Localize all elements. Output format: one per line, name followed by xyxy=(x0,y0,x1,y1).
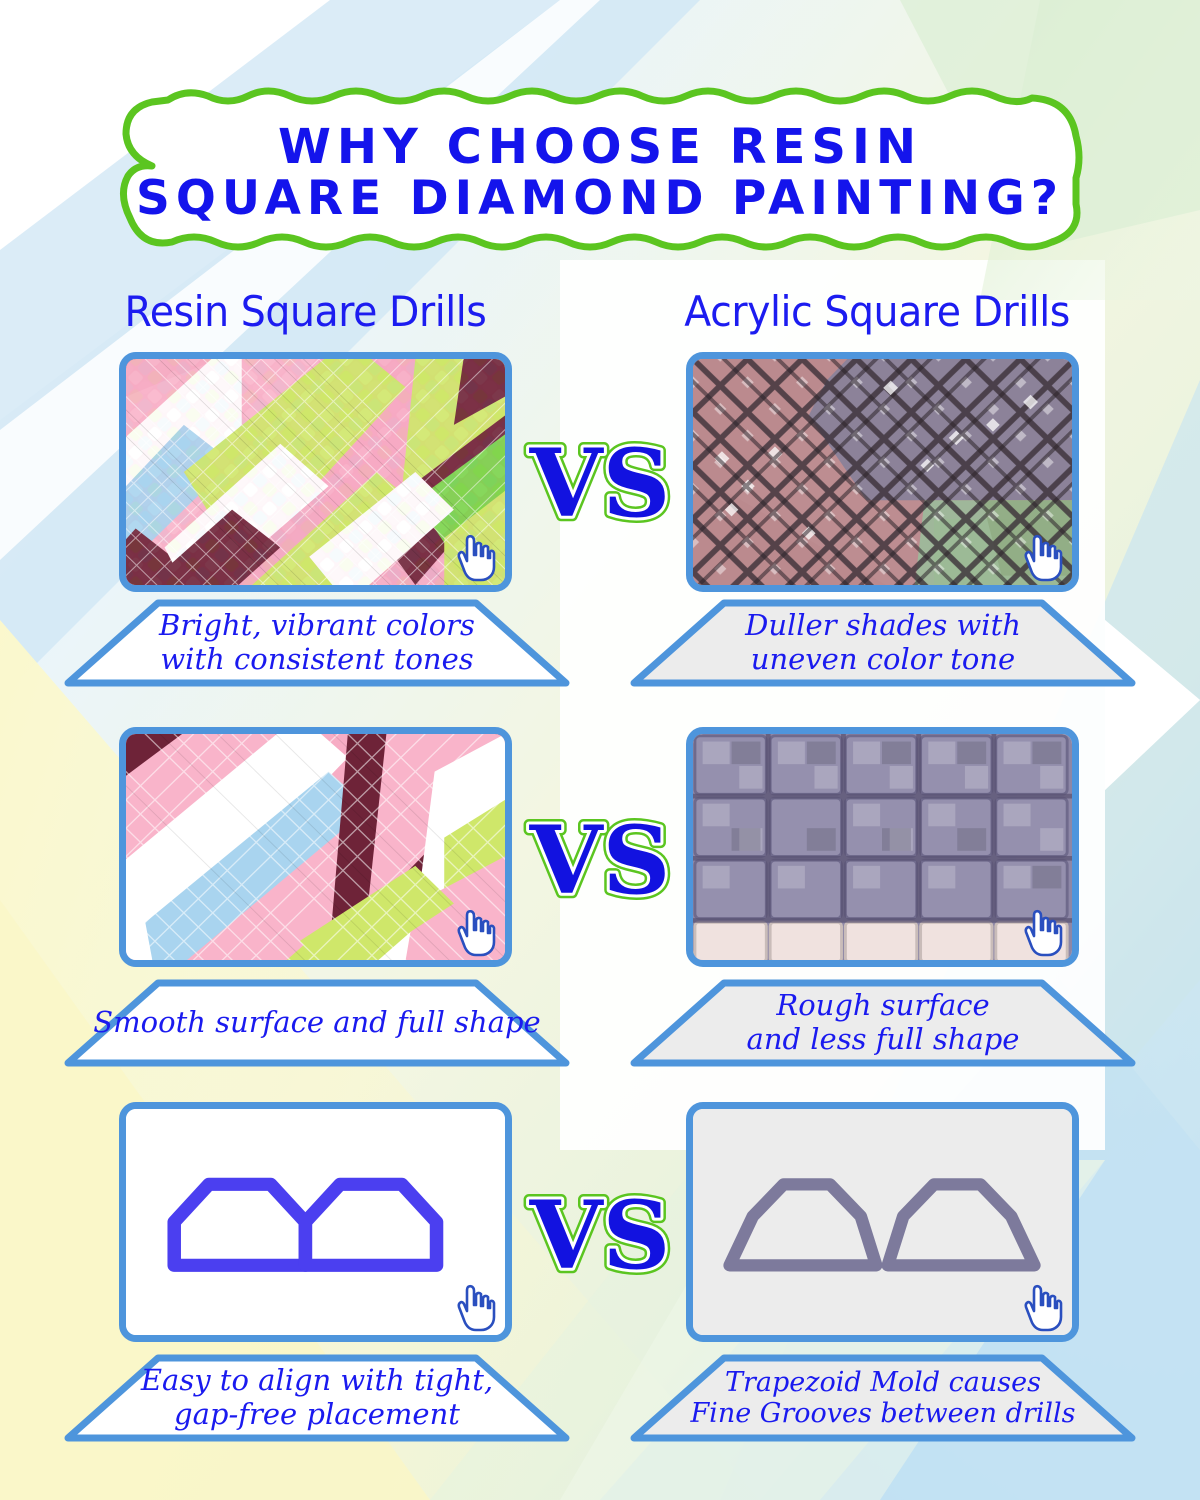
acrylic-drills-surface-photo xyxy=(693,734,1072,960)
card-resin-color-photo[interactable] xyxy=(119,352,512,592)
vs-badge-row-2: VS VS xyxy=(505,805,695,915)
vs-label: VS xyxy=(529,806,671,915)
card-acrylic-color-photo[interactable] xyxy=(686,352,1079,592)
caption-resin-shape: Easy to align with tight, gap-free place… xyxy=(62,1353,572,1443)
vs-label: VS xyxy=(529,1181,671,1290)
caption-line-2: Fine Grooves between drills xyxy=(690,1398,1075,1429)
title-line-1: WHY CHOOSE RESIN xyxy=(278,123,922,173)
resin-drills-surface-photo xyxy=(126,734,505,960)
vs-badge-row-1: VS VS xyxy=(505,428,695,538)
column-header-acrylic: Acrylic Square Drills xyxy=(684,287,1070,336)
caption-line-1: Trapezoid Mold causes xyxy=(725,1367,1041,1398)
infographic-page: WHY CHOOSE RESIN SQUARE DIAMOND PAINTING… xyxy=(0,0,1200,1500)
card-acrylic-surface-photo[interactable] xyxy=(686,727,1079,967)
resin-mold-diagram xyxy=(126,1109,505,1335)
card-acrylic-mold-diagram[interactable] xyxy=(686,1102,1079,1342)
title-banner: WHY CHOOSE RESIN SQUARE DIAMOND PAINTING… xyxy=(108,86,1092,256)
caption-acrylic-surface: Rough surface and less full shape xyxy=(628,978,1138,1068)
caption-acrylic-color: Duller shades with uneven color tone xyxy=(628,598,1138,688)
resin-drills-color-photo xyxy=(126,359,505,585)
card-resin-mold-diagram[interactable] xyxy=(119,1102,512,1342)
caption-line-1: Rough surface xyxy=(776,989,989,1023)
caption-line-1: Smooth surface and full shape xyxy=(93,1006,540,1040)
caption-line-1: Duller shades with xyxy=(745,609,1021,643)
caption-resin-surface: Smooth surface and full shape xyxy=(62,978,572,1068)
title-line-2: SQUARE DIAMOND PAINTING? xyxy=(136,175,1064,224)
caption-line-2: and less full shape xyxy=(747,1023,1020,1057)
acrylic-trapezoid-mold-diagram xyxy=(693,1109,1072,1335)
vs-label: VS xyxy=(529,429,671,538)
caption-line-2: with consistent tones xyxy=(160,643,473,677)
caption-line-1: Easy to align with tight, xyxy=(141,1364,493,1398)
caption-line-1: Bright, vibrant colors xyxy=(159,609,475,643)
card-resin-surface-photo[interactable] xyxy=(119,727,512,967)
caption-line-2: gap-free placement xyxy=(174,1398,460,1432)
caption-acrylic-shape: Trapezoid Mold causes Fine Grooves betwe… xyxy=(628,1353,1138,1443)
vs-badge-row-3: VS VS xyxy=(505,1180,695,1290)
column-header-resin: Resin Square Drills xyxy=(125,287,487,336)
caption-resin-color: Bright, vibrant colors with consistent t… xyxy=(62,598,572,688)
acrylic-drills-color-photo xyxy=(693,359,1072,585)
caption-line-2: uneven color tone xyxy=(751,643,1015,677)
